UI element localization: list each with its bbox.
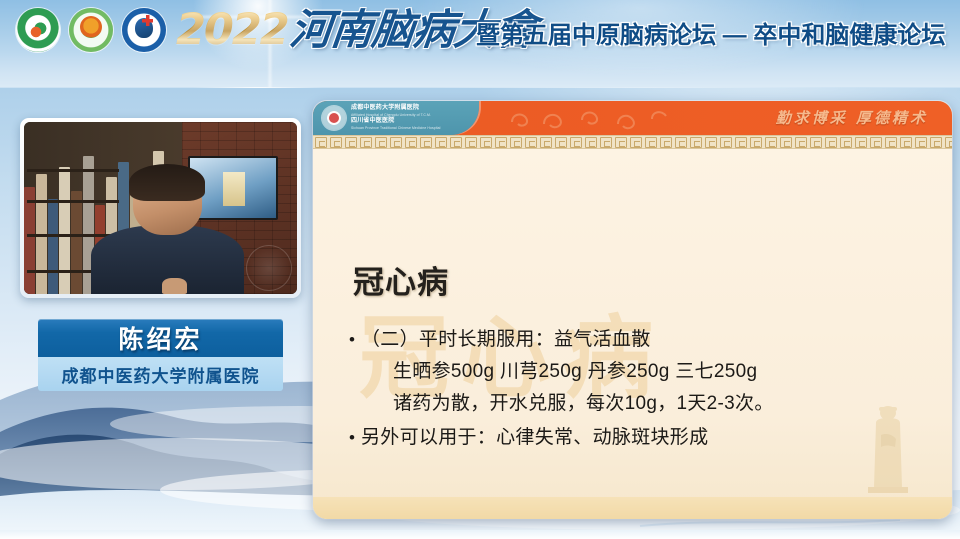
bullet-text: （二）平时长期服用：益气活血散	[361, 324, 933, 356]
bullet-subline-prescription: 生晒参500g 川芎250g 丹参250g 三七250g	[343, 356, 933, 388]
fret-unit	[360, 137, 372, 148]
bottom-strip	[0, 530, 960, 539]
fret-unit	[390, 137, 402, 148]
speaker-name-bar: 陈绍宏	[38, 319, 283, 357]
conference-year: 2022	[176, 6, 288, 54]
henan-first-hospital-logo	[122, 8, 166, 52]
fret-unit	[930, 137, 942, 148]
speaker-figure	[106, 170, 229, 294]
bullet-marker: •	[343, 422, 361, 454]
fret-unit	[885, 137, 897, 148]
presentation-slide[interactable]: 冠心病 冠心病 • （二）平时长期服用：益气活血散	[313, 101, 952, 519]
bullet-item-1: • （二）平时长期服用：益气活血散	[343, 324, 933, 356]
fret-unit	[330, 137, 342, 148]
fret-unit	[915, 137, 927, 148]
speaker-video-feed[interactable]	[24, 122, 297, 294]
fret-unit	[585, 137, 597, 148]
hospital-motto: 勤求博采 厚德精术	[776, 105, 928, 131]
hospital-logo-mark-icon	[322, 106, 346, 130]
fret-unit	[750, 137, 762, 148]
fret-unit	[615, 137, 627, 148]
fret-unit	[945, 137, 952, 148]
fret-unit	[795, 137, 807, 148]
fret-unit	[600, 137, 612, 148]
fret-unit	[420, 137, 432, 148]
fret-unit	[855, 137, 867, 148]
bullet-marker: •	[343, 324, 361, 356]
fret-unit	[825, 137, 837, 148]
bullet-text: 另外可以用于：心律失常、动脉斑块形成	[361, 422, 933, 454]
speaker-affiliation: 成都中医药大学附属医院	[62, 362, 260, 387]
fret-unit	[495, 137, 507, 148]
fret-unit	[525, 137, 537, 148]
organizer-logos	[16, 8, 166, 52]
slide-footer-band	[313, 497, 952, 519]
fret-unit	[345, 137, 357, 148]
fret-unit	[660, 137, 672, 148]
slide-fret-border	[313, 135, 952, 149]
fret-unit	[405, 137, 417, 148]
slide-body: 冠心病 冠心病 • （二）平时长期服用：益气活血散	[313, 149, 952, 519]
fret-unit	[555, 137, 567, 148]
fret-unit	[315, 137, 327, 148]
speaker-name: 陈绍宏	[118, 320, 202, 356]
fret-unit	[690, 137, 702, 148]
hospital-logo: 成都中医药大学附属医院 Affiliated Hospital of Cheng…	[322, 105, 463, 130]
fret-unit	[735, 137, 747, 148]
hospital-name: 成都中医药大学附属医院	[351, 105, 463, 112]
fret-unit	[630, 137, 642, 148]
screen-root: 2022 河南脑病大會 暨第五届中原脑病论坛 — 卒中和脑健康论坛	[0, 0, 960, 539]
hospital-sub-name: 四川省中医医院	[351, 118, 463, 125]
conference-header-banner: 2022 河南脑病大會 暨第五届中原脑病论坛 — 卒中和脑健康论坛	[0, 0, 960, 88]
fret-unit	[810, 137, 822, 148]
slide-bullet-list: • （二）平时长期服用：益气活血散 生晒参500g 川芎250g 丹参250g …	[343, 324, 933, 454]
fret-unit	[540, 137, 552, 148]
hospital-sub-name-en: Sichuan Province Traditional Chinese Med…	[351, 126, 463, 130]
fret-unit	[675, 137, 687, 148]
fret-unit	[870, 137, 882, 148]
fret-unit	[510, 137, 522, 148]
speaker-video-panel[interactable]	[20, 118, 301, 298]
conference-subtitle: 暨第五届中原脑病论坛 — 卒中和脑健康论坛	[476, 20, 945, 52]
fret-unit	[570, 137, 582, 148]
slide-title: 冠心病	[353, 257, 449, 302]
fret-unit	[375, 137, 387, 148]
fret-unit	[480, 137, 492, 148]
fret-unit	[840, 137, 852, 148]
fret-unit	[465, 137, 477, 148]
fret-unit	[900, 137, 912, 148]
video-watermark-icon	[246, 245, 292, 291]
fret-unit	[450, 137, 462, 148]
bullet-item-2: • 另外可以用于：心律失常、动脉斑块形成	[343, 422, 933, 454]
fret-unit	[765, 137, 777, 148]
fret-unit	[780, 137, 792, 148]
hospital-name-en: Affiliated Hospital of Chengdu Universit…	[351, 113, 463, 117]
slide-header-banner: 成都中医药大学附属医院 Affiliated Hospital of Cheng…	[313, 101, 952, 135]
cloud-pattern-icon	[498, 102, 678, 134]
fret-unit	[705, 137, 717, 148]
henan-tcm-association-logo	[16, 8, 60, 52]
flower-emblem-logo	[69, 8, 113, 52]
bullet-subline-instruction: 诸药为散，开水兑服，每次10g，1天2-3次。	[343, 388, 933, 420]
fret-unit	[645, 137, 657, 148]
speaker-affiliation-bar: 成都中医药大学附属医院	[38, 357, 283, 391]
fret-unit	[435, 137, 447, 148]
fret-unit	[720, 137, 732, 148]
